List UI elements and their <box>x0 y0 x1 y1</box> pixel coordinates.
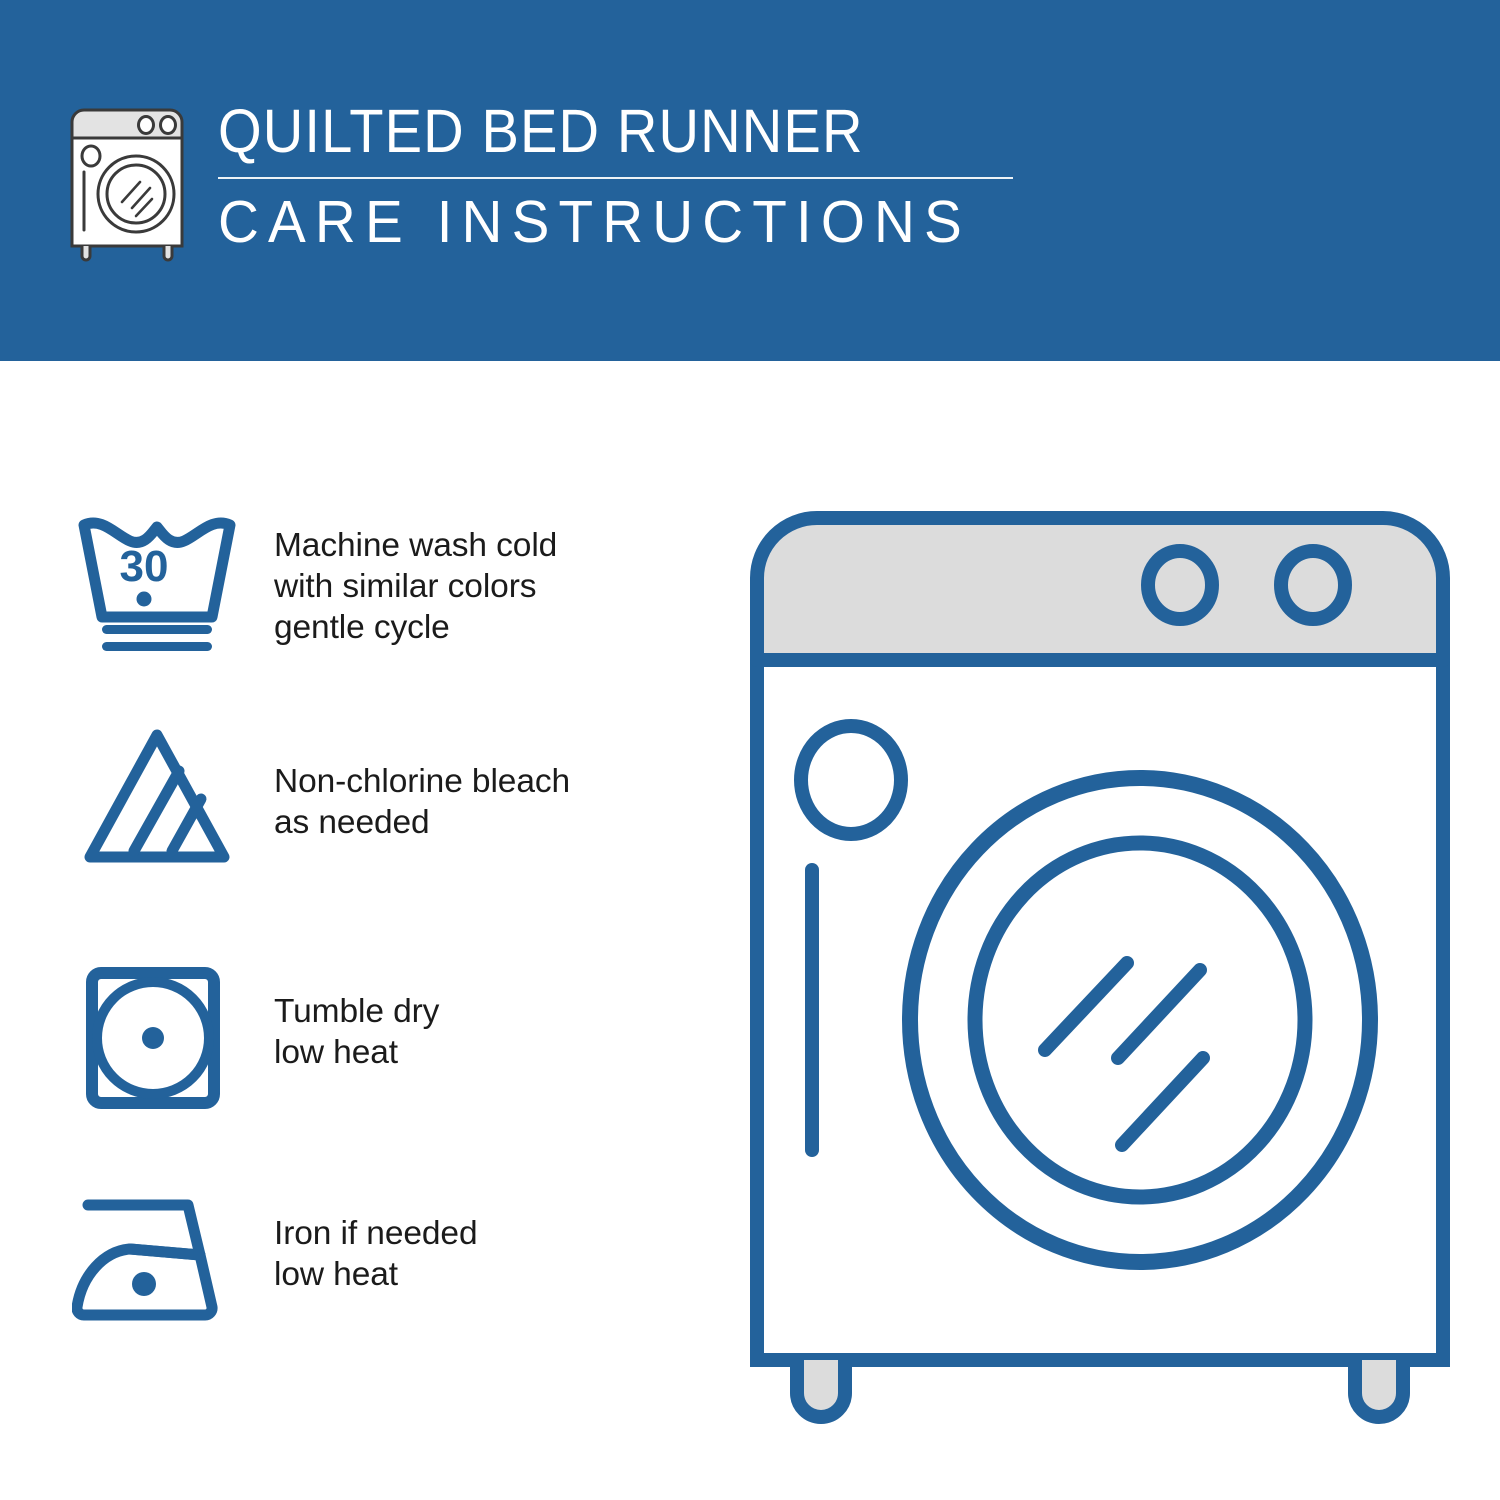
care-item-label: Machine wash cold with similar colors ge… <box>274 511 557 648</box>
svg-text:30: 30 <box>120 542 169 591</box>
care-item-bleach: Non-chlorine bleach as needed <box>0 723 700 873</box>
non-chlorine-bleach-triangle-icon <box>72 723 242 873</box>
page-title: QUILTED BED RUNNER <box>218 96 972 166</box>
care-instructions-page: QUILTED BED RUNNER CARE INSTRUCTIONS 30 <box>0 0 1500 1500</box>
wash-tub-30-icon: 30 <box>72 511 242 661</box>
care-item-label: Non-chlorine bleach as needed <box>274 723 570 843</box>
care-item-tumble-dry: Tumble dry low heat <box>0 961 700 1111</box>
care-item-label: Tumble dry low heat <box>274 961 439 1073</box>
page-subtitle: CARE INSTRUCTIONS <box>218 188 1005 256</box>
care-item-machine-wash: 30 Machine wash cold with similar colors… <box>0 511 700 661</box>
washing-machine-icon <box>62 104 192 264</box>
tumble-dry-low-icon <box>72 961 242 1111</box>
header-banner: QUILTED BED RUNNER CARE INSTRUCTIONS <box>0 0 1500 361</box>
title-divider <box>218 177 1013 179</box>
care-item-iron: Iron if needed low heat <box>0 1183 700 1333</box>
washing-machine-illustration <box>735 490 1465 1425</box>
header-text-block: QUILTED BED RUNNER CARE INSTRUCTIONS <box>218 96 1038 256</box>
care-symbol-list: 30 Machine wash cold with similar colors… <box>0 361 700 1500</box>
care-item-label: Iron if needed low heat <box>274 1183 477 1295</box>
iron-low-heat-icon <box>72 1183 242 1333</box>
